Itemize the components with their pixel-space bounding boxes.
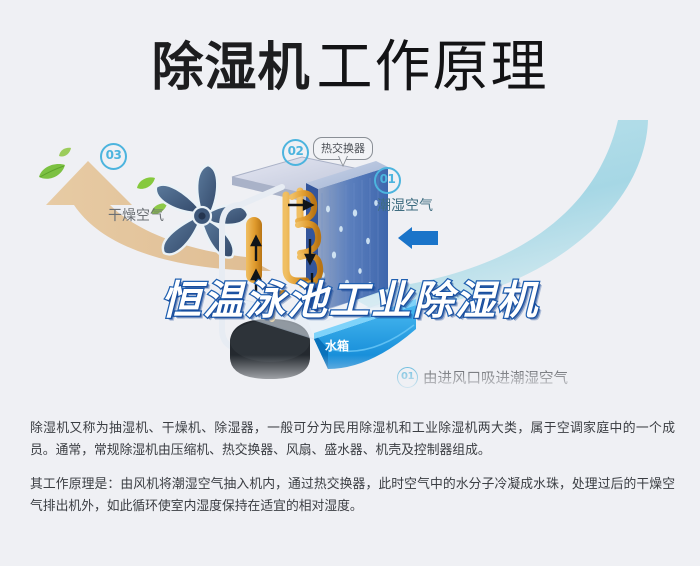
badge-01: 01 xyxy=(374,167,401,194)
label-humid-air: 潮湿空气 xyxy=(377,195,433,215)
step-text: 由进风口吸进潮湿空气 xyxy=(423,367,568,388)
paragraph-two: 其工作原理是：由风机将潮湿空气抽入机内，通过热交换器，此时空气中的水分子冷凝成水… xyxy=(30,474,675,518)
callout-tail-icon xyxy=(338,156,348,167)
list-item: 01由进风口吸进潮湿空气 xyxy=(397,367,687,394)
description-block: 除湿机又称为抽湿机、干燥机、除湿器，一般可分为民用除湿机和工业除湿机两大类，属于… xyxy=(30,418,675,530)
dehumidifier-diagram: 热交换器 03 02 01 干燥空气 潮湿空气 水箱 01由进风口吸进潮湿空气 … xyxy=(0,115,700,405)
badge-03: 03 xyxy=(100,143,127,170)
poster-page: 除湿机工作原理 xyxy=(0,0,700,566)
step-number: 01 xyxy=(397,367,418,388)
page-title: 除湿机工作原理 xyxy=(0,22,700,103)
paragraph-one: 除湿机又称为抽湿机、干燥机、除湿器，一般可分为民用除湿机和工业除湿机两大类，属于… xyxy=(30,418,675,462)
label-dry-air: 干燥空气 xyxy=(108,205,164,225)
steps-list: 01由进风口吸进潮湿空气 02潮湿空气经过蒸发器冷凝成水珠 03从上部出风口吹出… xyxy=(397,367,687,405)
label-water-tank: 水箱 xyxy=(325,337,349,354)
badge-02: 02 xyxy=(282,139,309,166)
title-light-part: 工作原理 xyxy=(317,35,549,100)
title-bold-part: 除湿机 xyxy=(151,38,310,98)
